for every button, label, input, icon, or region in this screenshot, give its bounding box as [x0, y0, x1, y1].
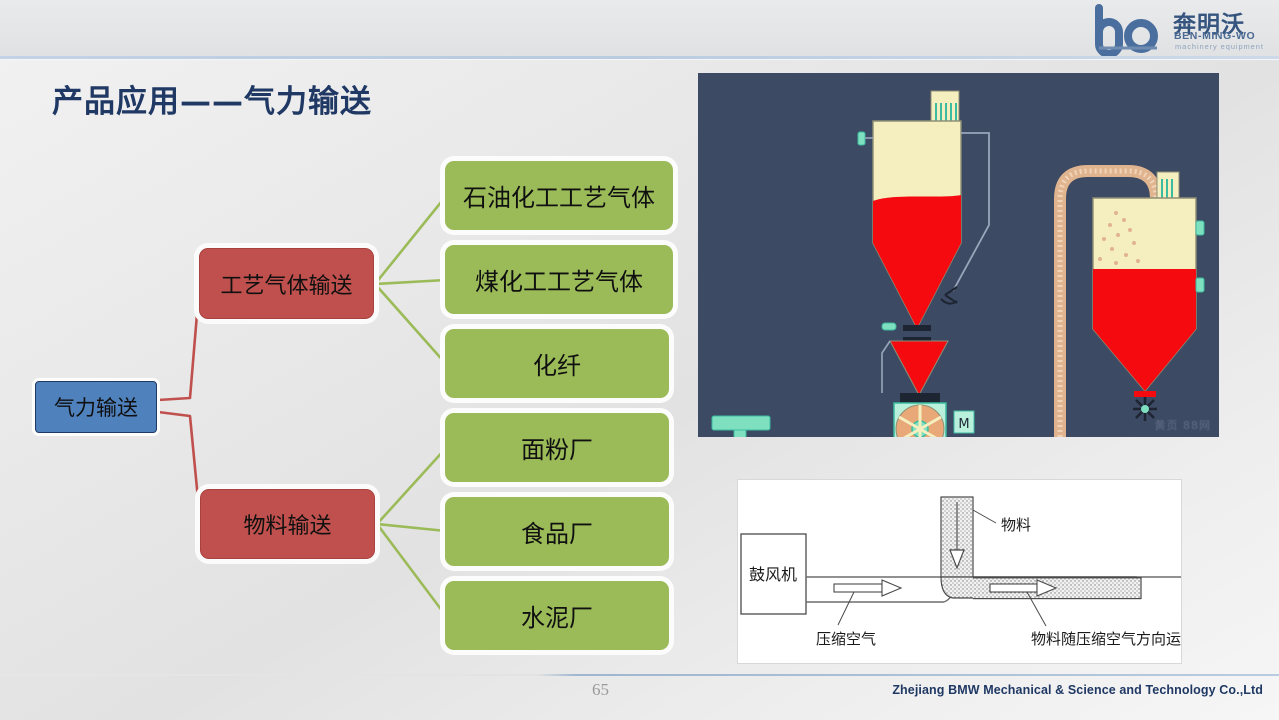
- logo-english-name: BEN-MING-WO: [1174, 30, 1255, 42]
- company-logo: 奔明沃 BEN-MING-WO machinery equipment: [1095, 4, 1265, 56]
- mindmap-leaf-label-6: 水泥厂: [521, 598, 593, 633]
- mindmap-root-label: 气力输送: [54, 392, 138, 422]
- svg-text:M: M: [958, 417, 969, 432]
- mindmap-leaf-node-4[interactable]: 面粉厂: [445, 413, 669, 482]
- company-name-footer: Zhejiang BMW Mechanical & Science and Te…: [892, 683, 1263, 697]
- mindmap-category-label-1: 工艺气体输送: [220, 268, 352, 300]
- conveying-principle-image: 鼓风机 物料: [737, 479, 1182, 664]
- compressed-air-label: 压缩空气: [816, 630, 876, 648]
- image-watermark: 黄页 88网: [1155, 417, 1212, 433]
- mindmap-category-label-2: 物料输送: [243, 508, 331, 540]
- mindmap-leaf-node-1[interactable]: 石油化工工艺气体: [445, 161, 673, 230]
- mindmap-leaf-label-1: 石油化工工艺气体: [463, 178, 655, 213]
- footer-divider: [0, 674, 1279, 676]
- mindmap-leaf-label-4: 面粉厂: [521, 430, 593, 465]
- mindmap-leaf-node-2[interactable]: 煤化工工艺气体: [445, 245, 673, 314]
- blower-label: 鼓风机: [749, 565, 797, 584]
- material-flow-label: 物料随压缩空气方向运动: [1031, 630, 1181, 648]
- logo-tagline: machinery equipment: [1175, 42, 1264, 51]
- mindmap-leaf-node-3[interactable]: 化纤: [445, 329, 669, 398]
- pneumatic-system-schematic-icon: M M: [698, 73, 1219, 437]
- mindmap-leaf-node-6[interactable]: 水泥厂: [445, 581, 669, 650]
- mindmap-leaf-node-5[interactable]: 食品厂: [445, 497, 669, 566]
- pneumatic-conveying-system-image: M M: [698, 73, 1219, 437]
- mindmap-leaf-label-2: 煤化工工艺气体: [475, 262, 643, 297]
- conveying-principle-diagram-icon: 鼓风机 物料: [738, 480, 1181, 663]
- mindmap-root-node[interactable]: 气力输送: [35, 381, 157, 433]
- material-label: 物料: [1001, 516, 1031, 534]
- mindmap-category-node-2[interactable]: 物料输送: [200, 489, 375, 559]
- mindmap-leaf-label-5: 食品厂: [521, 514, 593, 549]
- mindmap-category-node-1[interactable]: 工艺气体输送: [199, 248, 374, 319]
- slide: 奔明沃 BEN-MING-WO machinery equipment 产品应用…: [0, 0, 1279, 720]
- mindmap-leaf-label-3: 化纤: [533, 346, 581, 381]
- page-number: 65: [592, 680, 609, 700]
